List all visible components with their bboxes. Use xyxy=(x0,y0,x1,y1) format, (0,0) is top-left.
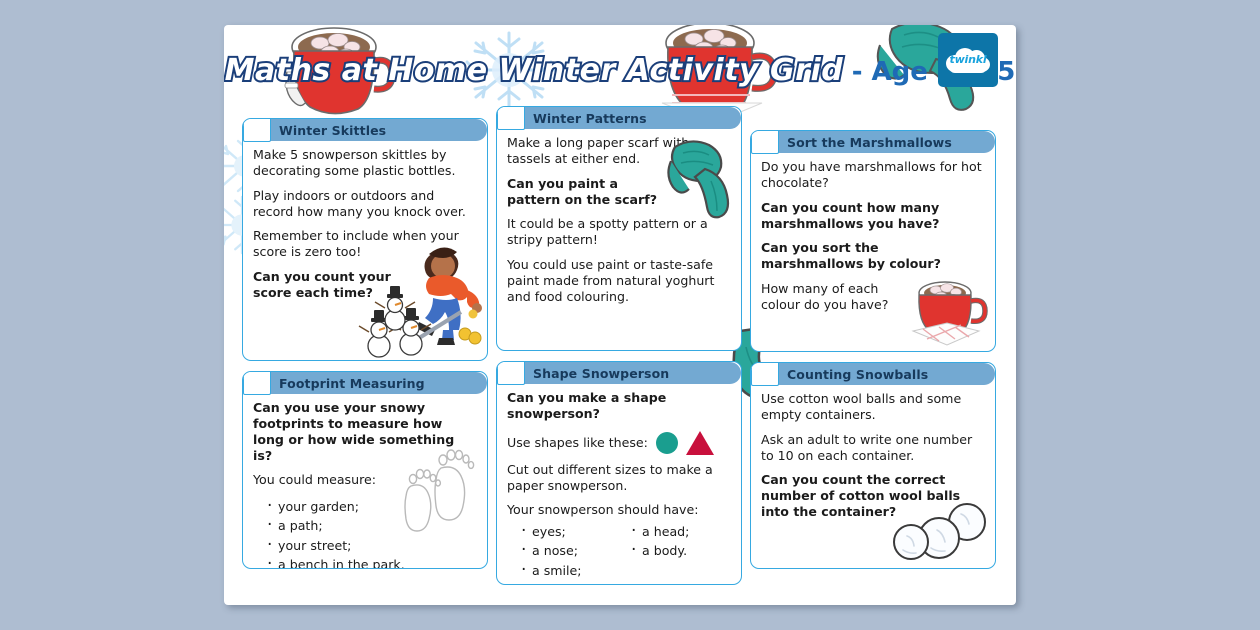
grid-column-2: Winter Patterns Make a long paper scarf … xyxy=(496,106,742,585)
snowperson-parts-list-right: a head; a body. xyxy=(617,522,727,579)
tick-box[interactable] xyxy=(751,362,779,386)
card-paragraph: Make a long paper scarf with tassels at … xyxy=(507,135,731,167)
list-item: your street; xyxy=(267,536,477,555)
list-item: a body. xyxy=(631,541,727,560)
card-question: Can you count your score each time? xyxy=(253,269,403,301)
activity-grid: Winter Skittles Make 5 snowperson skittl… xyxy=(242,118,998,585)
activity-card-footprint-measuring: Footprint Measuring Can you use your sno… xyxy=(242,371,488,569)
list-item: a smile; xyxy=(521,561,617,580)
screenshot-canvas: Maths at Home Winter Activity Grid - Age… xyxy=(0,0,1260,630)
snowperson-parts-list-left: eyes; a nose; a smile; xyxy=(507,522,617,579)
card-paragraph: Make 5 snowperson skittles by decorating… xyxy=(253,147,477,179)
card-header: Sort the Marshmallows xyxy=(751,131,995,153)
list-item: a head; xyxy=(631,522,727,541)
tick-box[interactable] xyxy=(497,361,525,385)
page-title-main: Maths at Home Winter Activity Grid xyxy=(225,53,844,88)
card-question: Can you use your snowy footprints to mea… xyxy=(253,400,477,463)
card-paragraph: Use shapes like these: xyxy=(507,435,648,450)
card-paragraph: Do you have marshmallows for hot chocola… xyxy=(761,159,985,191)
card-paragraph: Remember to include when your score is z… xyxy=(253,228,477,260)
card-header: Counting Snowballs xyxy=(751,363,995,385)
shape-examples-row: Use shapes like these: xyxy=(507,431,731,455)
card-title: Winter Skittles xyxy=(279,123,386,138)
card-paragraph: You could use paint or taste-safe paint … xyxy=(507,257,731,305)
card-question: Can you count how many marshmallows you … xyxy=(761,200,985,232)
card-header: Shape Snowperson xyxy=(497,362,741,384)
card-paragraph: How many of each colour do you have? xyxy=(761,281,911,313)
hot-chocolate-mug-artwork-icon xyxy=(909,275,991,347)
card-paragraph: Play indoors or outdoors and record how … xyxy=(253,188,477,220)
list-item: your garden; xyxy=(267,497,477,516)
card-title: Shape Snowperson xyxy=(533,366,669,381)
card-paragraph: Use cotton wool balls and some empty con… xyxy=(761,391,985,423)
measure-options-list: your garden; a path; your street; a benc… xyxy=(253,497,477,569)
tick-box[interactable] xyxy=(497,106,525,130)
activity-card-shape-snowperson: Shape Snowperson Can you make a shape sn… xyxy=(496,361,742,585)
card-question: Can you make a shape snowperson? xyxy=(507,390,667,422)
activity-card-counting-snowballs: Counting Snowballs Use cotton wool balls… xyxy=(750,362,996,569)
activity-card-winter-patterns: Winter Patterns Make a long paper scarf … xyxy=(496,106,742,351)
cloud-icon: twinkl xyxy=(945,46,991,74)
card-header: Winter Patterns xyxy=(497,107,741,129)
card-paragraph: You could measure: xyxy=(253,472,477,488)
list-item: eyes; xyxy=(521,522,617,541)
twinkl-logo-text: twinkl xyxy=(945,53,991,66)
card-question: Can you count the correct number of cott… xyxy=(761,472,985,520)
card-paragraph: Your snowperson should have: xyxy=(507,502,731,518)
card-paragraph: It could be a spotty pattern or a stripy… xyxy=(507,216,731,248)
card-title: Footprint Measuring xyxy=(279,376,425,391)
grid-column-1: Winter Skittles Make 5 snowperson skittl… xyxy=(242,118,488,585)
grid-column-3: Sort the Marshmallows Do you have marshm… xyxy=(750,130,996,585)
card-title: Winter Patterns xyxy=(533,111,647,126)
card-title: Counting Snowballs xyxy=(787,367,928,382)
activity-card-winter-skittles: Winter Skittles Make 5 snowperson skittl… xyxy=(242,118,488,361)
page-title: Maths at Home Winter Activity Grid - Age… xyxy=(224,53,1016,88)
card-title: Sort the Marshmallows xyxy=(787,135,952,150)
list-item: a path; xyxy=(267,516,477,535)
activity-sheet: Maths at Home Winter Activity Grid - Age… xyxy=(224,25,1016,605)
card-paragraph: Ask an adult to write one number to 10 o… xyxy=(761,432,985,464)
list-item: a nose; xyxy=(521,541,617,560)
card-header: Footprint Measuring xyxy=(243,372,487,394)
card-header: Winter Skittles xyxy=(243,119,487,141)
list-item: a bench in the park. xyxy=(267,555,477,569)
activity-card-sort-the-marshmallows: Sort the Marshmallows Do you have marshm… xyxy=(750,130,996,352)
circle-shape-icon xyxy=(656,432,678,454)
tick-box[interactable] xyxy=(243,371,271,395)
card-paragraph: Cut out different sizes to make a paper … xyxy=(507,462,731,494)
card-question: Can you sort the marshmallows by colour? xyxy=(761,240,985,272)
tick-box[interactable] xyxy=(243,118,271,142)
tick-box[interactable] xyxy=(751,130,779,154)
snowperson-parts-lists: eyes; a nose; a smile; a head; a body. xyxy=(507,522,731,579)
triangle-shape-icon xyxy=(686,431,714,455)
twinkl-logo[interactable]: twinkl xyxy=(938,33,998,87)
card-question: Can you paint a pattern on the scarf? xyxy=(507,176,675,208)
